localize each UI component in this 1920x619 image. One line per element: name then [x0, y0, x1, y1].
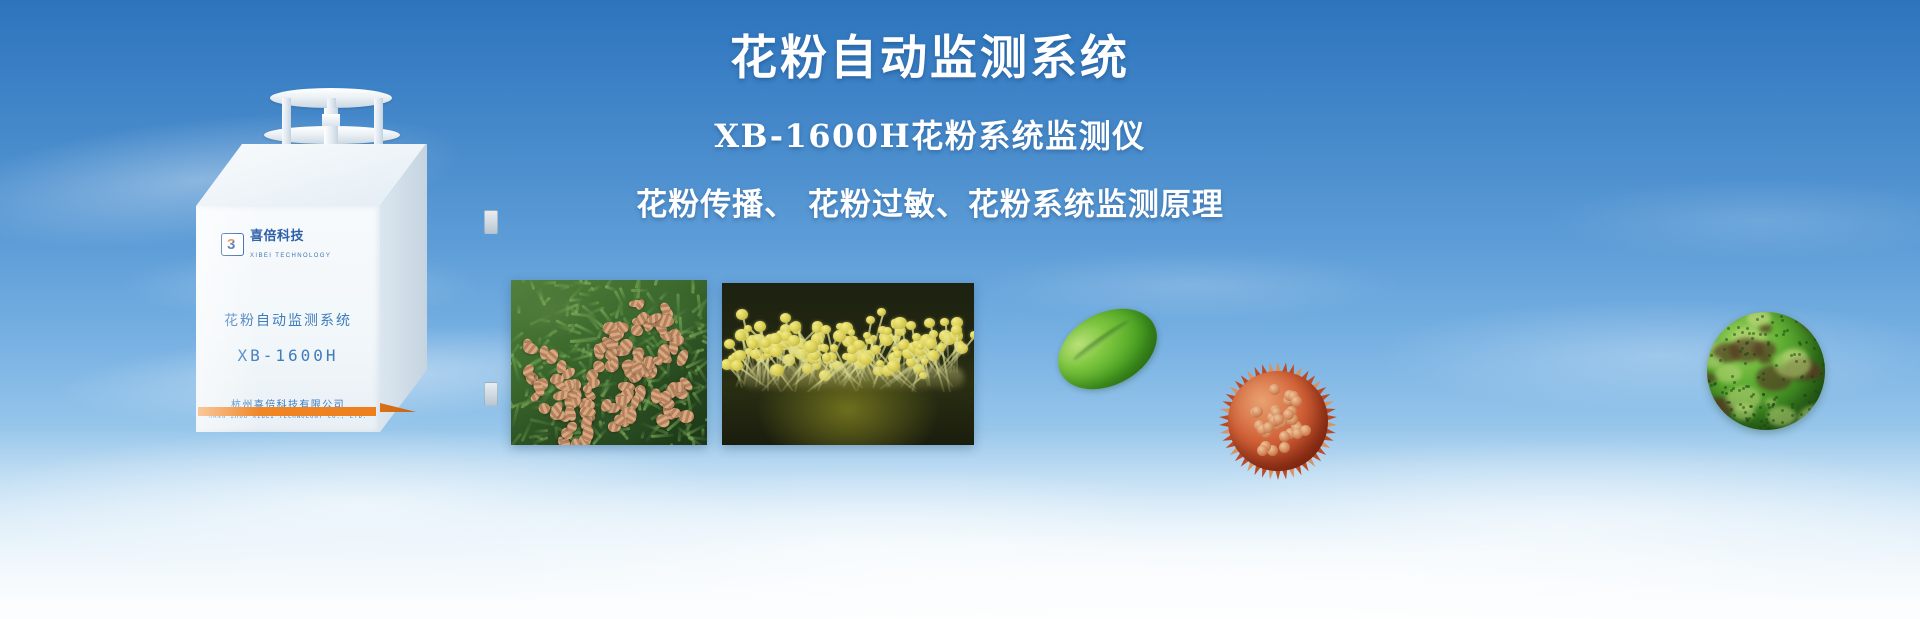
surface-speck [1817, 330, 1820, 333]
pollen-bump [1300, 425, 1311, 436]
anther [925, 338, 937, 349]
surface-speck [1713, 427, 1716, 430]
surface-speck [1803, 360, 1806, 363]
device-cabinet: 3 喜倍科技 XIBEI TECHNOLOGY 花粉自动监测系统 XB-1600… [196, 144, 466, 432]
anther [924, 318, 935, 328]
surface-speck [1815, 324, 1818, 327]
surface-speck [1791, 406, 1794, 409]
conifer-needle [554, 284, 578, 287]
surface-speck [1739, 350, 1742, 353]
anther [883, 327, 892, 335]
anther [893, 317, 907, 329]
surface-speck [1711, 321, 1714, 324]
surface-speck [1717, 329, 1720, 332]
surface-speck [1725, 323, 1728, 326]
surface-patch [1715, 364, 1742, 383]
surface-speck [1720, 323, 1723, 326]
surface-speck [1708, 429, 1711, 430]
male-cone [582, 426, 593, 442]
xibei-logo-icon: 3 [221, 233, 244, 256]
conifer-needle [568, 324, 580, 327]
surface-speck [1708, 348, 1711, 351]
company-name-cn: 杭州喜倍科技有限公司 [196, 396, 380, 411]
pollen-bump [1252, 406, 1263, 417]
anther [788, 335, 800, 346]
surface-speck [1708, 408, 1711, 411]
anther [822, 353, 831, 361]
anther [731, 360, 743, 371]
surface-speck [1818, 395, 1821, 398]
brand-name-en: XIBEI TECHNOLOGY [250, 253, 331, 259]
headline-block: 花粉自动监测系统 XB-1600H花粉系统监测仪 花粉传播、 花粉过敏、花粉系统… [560, 30, 1300, 224]
surface-speck [1805, 419, 1808, 422]
banner-tagline: 花粉传播、 花粉过敏、花粉系统监测原理 [560, 179, 1300, 224]
surface-speck [1750, 405, 1753, 408]
surface-speck [1762, 393, 1765, 396]
surface-speck [1766, 421, 1769, 424]
surface-speck [1808, 401, 1811, 404]
pollen-bump [1257, 445, 1268, 456]
pollen-bump [1263, 422, 1274, 433]
anther [724, 339, 735, 349]
company-name-en: HANG ZHOU XIBEI TECHNOLOGY CO., LTD. [196, 414, 380, 420]
sampler-inlet-cap [322, 114, 340, 126]
surface-speck [1767, 341, 1770, 344]
surface-patch [1759, 324, 1772, 333]
surface-speck [1759, 333, 1762, 336]
device-company-block: 杭州喜倍科技有限公司 HANG ZHOU XIBEI TECHNOLOGY CO… [196, 396, 380, 420]
anther [912, 333, 921, 341]
anther [804, 340, 818, 352]
surface-speck [1823, 316, 1825, 319]
surface-speck [1757, 376, 1760, 379]
pollen-monitoring-banner: 花粉自动监测系统 XB-1600H花粉系统监测仪 花粉传播、 花粉过敏、花粉系统… [0, 0, 1920, 619]
surface-speck [1782, 333, 1785, 336]
surface-speck [1733, 333, 1736, 336]
brand-text: 喜倍科技 XIBEI TECHNOLOGY [250, 228, 331, 262]
surface-speck [1813, 380, 1816, 383]
surface-speck [1820, 372, 1823, 375]
anther [747, 339, 758, 349]
surface-speck [1798, 353, 1801, 356]
anther [876, 360, 884, 367]
surface-speck [1762, 372, 1765, 375]
conifer-needle [517, 303, 520, 313]
surface-speck [1791, 403, 1794, 406]
surface-speck [1714, 423, 1717, 426]
device-brand-logo: 3 喜倍科技 XIBEI TECHNOLOGY [221, 228, 331, 262]
anther [833, 330, 846, 342]
surface-speck [1760, 420, 1763, 423]
sampler-post [282, 98, 291, 136]
surface-speck [1816, 399, 1819, 402]
anther [853, 340, 864, 350]
surface-patch [1714, 400, 1724, 407]
surface-speck [1744, 362, 1747, 365]
surface-speck [1737, 340, 1740, 343]
surface-speck [1727, 327, 1730, 330]
surface-speck [1732, 316, 1735, 319]
surface-speck [1707, 389, 1710, 392]
surface-speck [1817, 391, 1820, 394]
surface-speck [1815, 333, 1818, 336]
surface-speck [1812, 331, 1815, 334]
surface-speck [1763, 424, 1766, 427]
surface-speck [1744, 411, 1747, 414]
pollen-bump [1269, 384, 1280, 395]
surface-speck [1726, 427, 1729, 430]
surface-speck [1719, 421, 1722, 424]
cedar-male-cones-photo [511, 280, 707, 445]
surface-speck [1745, 342, 1748, 345]
device-product-name: 花粉自动监测系统 [196, 310, 380, 330]
surface-speck [1719, 359, 1722, 362]
pollen-grain-body [1707, 312, 1825, 430]
surface-speck [1804, 394, 1807, 397]
anther [769, 333, 781, 344]
surface-speck [1781, 319, 1784, 322]
sampler-post [374, 98, 383, 136]
surface-speck [1814, 338, 1817, 341]
banner-subheadline: XB-1600H花粉系统监测仪 [560, 111, 1300, 157]
surface-speck [1804, 415, 1807, 418]
surface-speck [1823, 344, 1825, 347]
surface-speck [1781, 428, 1784, 430]
anther [863, 332, 871, 339]
surface-speck [1771, 405, 1774, 408]
surface-speck [1767, 427, 1770, 430]
surface-speck [1738, 389, 1741, 392]
cabinet-latch-top [484, 210, 498, 234]
anther [951, 325, 962, 335]
anther [736, 309, 748, 320]
surface-speck [1795, 320, 1798, 323]
surface-speck [1775, 396, 1778, 399]
banner-headline: 花粉自动监测系统 [560, 30, 1300, 89]
surface-speck [1714, 382, 1717, 385]
anther [848, 329, 855, 335]
surface-speck [1782, 378, 1785, 381]
surface-speck [1786, 329, 1789, 332]
surface-speck [1746, 327, 1749, 330]
surface-speck [1768, 354, 1771, 357]
surface-speck [1808, 408, 1811, 411]
catkin-anthers-photo [722, 283, 974, 445]
surface-speck [1761, 315, 1764, 318]
anther [970, 331, 974, 339]
surface-speck [1759, 426, 1762, 429]
surface-speck [1759, 406, 1762, 409]
surface-speck [1771, 321, 1774, 324]
surface-speck [1805, 341, 1808, 344]
surface-speck [1722, 325, 1725, 328]
cabinet-latch-bottom [484, 382, 498, 406]
surface-speck [1764, 333, 1767, 336]
surface-speck [1823, 427, 1825, 430]
surface-speck [1823, 326, 1825, 329]
surface-speck [1726, 421, 1729, 424]
brand-name-cn: 喜倍科技 [250, 228, 304, 243]
anther [735, 331, 746, 341]
surface-speck [1812, 419, 1815, 422]
pollen-bump [1279, 431, 1290, 442]
surface-speck [1739, 403, 1742, 406]
surface-speck [1730, 421, 1733, 424]
mossy-green-pollen-grain [1707, 312, 1825, 430]
surface-speck [1813, 347, 1816, 350]
surface-speck [1724, 386, 1727, 389]
pollen-monitor-device: 3 喜倍科技 XIBEI TECHNOLOGY 花粉自动监测系统 XB-1600… [196, 82, 466, 432]
surface-speck [1745, 385, 1748, 388]
spiky-orange-pollen-grain [1216, 359, 1340, 483]
surface-speck [1748, 332, 1751, 335]
surface-speck [1781, 409, 1784, 412]
accent-stripe [198, 407, 376, 416]
anther [906, 321, 916, 330]
anther [940, 318, 949, 326]
device-model-number: XB-1600H [196, 346, 380, 365]
surface-speck [1780, 315, 1783, 318]
surface-speck [1721, 391, 1724, 394]
surface-speck [1775, 334, 1778, 337]
cabinet-front-panel: 3 喜倍科技 XIBEI TECHNOLOGY 花粉自动监测系统 XB-1600… [196, 206, 380, 432]
anther [830, 344, 838, 351]
logo-glyph: 3 [227, 234, 235, 255]
surface-speck [1765, 418, 1768, 421]
surface-speck [1725, 338, 1728, 341]
